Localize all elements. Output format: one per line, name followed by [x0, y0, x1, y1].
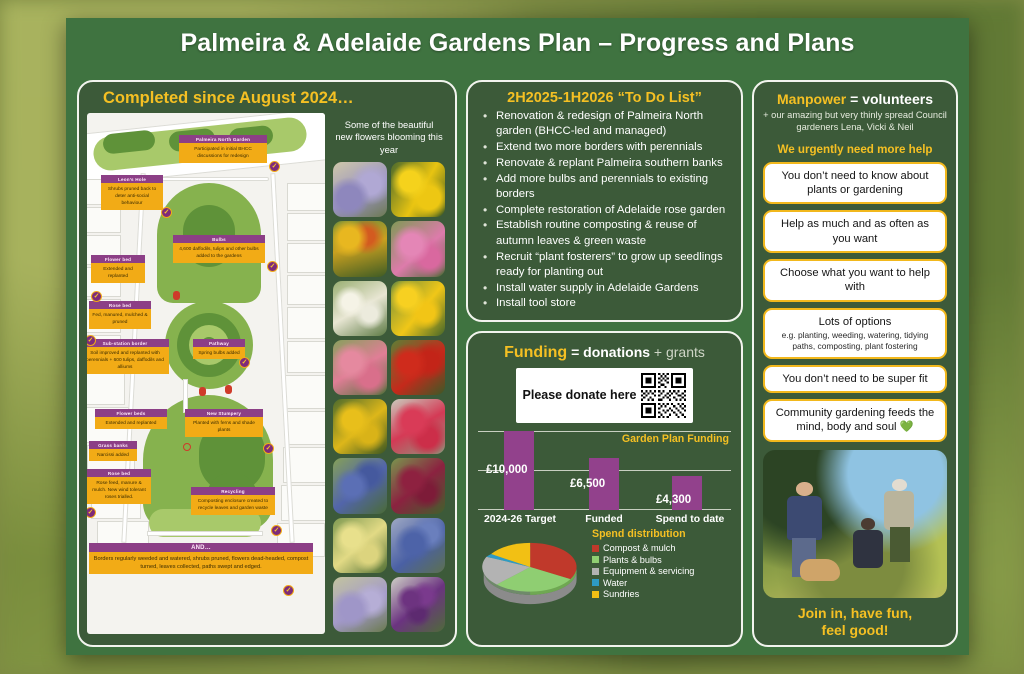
funding-heading-plus: + grants	[654, 344, 705, 360]
legend-swatch-water	[592, 579, 599, 586]
bar-value-spend: £4,300	[656, 494, 691, 506]
poster-columns: Completed since August 2024…	[66, 80, 969, 647]
benefit-card-flexible-time[interactable]: Help as much and as often as you want	[763, 210, 947, 253]
list-item: Add more bulbs and perennials to existin…	[478, 172, 731, 203]
funding-bar-chart: Garden Plan Funding £10,000 £6,500 £4,30…	[478, 431, 731, 524]
legend-swatch-sundries	[592, 591, 599, 598]
map-label[interactable]: Rose bed Rose feed, manure & mulch. New …	[87, 469, 151, 504]
benefit-card-no-knowledge[interactable]: You don’t need to know about plants or g…	[763, 162, 947, 205]
map-label[interactable]: Bulbs 4,600 daffodils, tulips and other …	[173, 235, 265, 263]
list-item: Renovate & replant Palmeira southern ban…	[478, 156, 731, 171]
volunteer-head	[892, 479, 907, 491]
join-in-text: Join in, have fun, feel good!	[763, 605, 947, 639]
bar-value-target: £10,000	[486, 464, 528, 476]
legend-item: Equipment & servicing	[592, 566, 733, 576]
legend-item: Sundries	[592, 589, 733, 599]
bar-value-funded: £6,500	[570, 478, 605, 490]
red-tulips-photo[interactable]	[391, 340, 445, 395]
red-amaranth-photo[interactable]	[391, 399, 445, 454]
pie-legend: Spend distribution Compost & mulch Plant…	[588, 528, 733, 601]
manpower-heading: Manpower = volunteers	[763, 91, 947, 107]
column-manpower: Manpower = volunteers + our amazing but …	[752, 80, 958, 647]
list-item: Install tool store	[478, 296, 731, 311]
todo-heading: 2H2025-1H2026 “To Do List”	[478, 90, 731, 106]
list-item: Renovation & redesign of Palmeira North …	[478, 109, 731, 140]
column-completed: Completed since August 2024…	[77, 80, 457, 647]
list-item: Establish routine composting & reuse of …	[478, 218, 731, 249]
legend-item: Water	[592, 578, 733, 588]
pink-sedum-photo[interactable]	[333, 340, 387, 395]
pie-svg	[476, 528, 588, 606]
funding-heading-eq: = donations	[571, 344, 650, 360]
photos-caption: Some of the beautiful new flowers bloomi…	[331, 113, 447, 162]
benefit-card-fitness[interactable]: You don’t need to be super fit	[763, 365, 947, 393]
donate-label: Please donate here	[523, 388, 637, 403]
list-item: Extend two more borders with perennials	[478, 140, 731, 155]
funding-heading-word: Funding	[504, 344, 567, 361]
panel-completed: Completed since August 2024…	[77, 80, 457, 647]
manpower-subtitle: + our amazing but very thinly spread Cou…	[763, 109, 947, 134]
pale-yellow-phlomis-photo[interactable]	[333, 518, 387, 573]
check-icon: ✓	[269, 161, 280, 172]
check-icon: ✓	[267, 261, 278, 272]
legend-item: Plants & bulbs	[592, 555, 733, 565]
blue-eryngium-photo[interactable]	[391, 518, 445, 573]
benefit-card-choose-task[interactable]: Choose what you want to help with	[763, 259, 947, 302]
white-narcissi-photo[interactable]	[333, 281, 387, 336]
map-label[interactable]: Rose bed Fed, manured, mulched & pruned	[89, 301, 151, 329]
volunteer-torso	[853, 530, 882, 568]
list-item: Complete restoration of Adelaide rose ga…	[478, 203, 731, 218]
bar-category-target: 2024-26 Target	[474, 514, 566, 525]
check-icon: ✓	[271, 525, 282, 536]
map-label[interactable]: Grass banks Narcissi added	[89, 441, 137, 461]
map-label[interactable]: New Stumpery Planted with ferns and shad…	[185, 409, 263, 437]
page-title: Palmeira & Adelaide Gardens Plan – Progr…	[66, 18, 969, 58]
bar-chart-title: Garden Plan Funding	[622, 433, 729, 445]
lavender-border-photo[interactable]	[333, 162, 387, 217]
map-label[interactable]: Pathway Spring bulbs added	[193, 339, 245, 359]
map-label[interactable]: Flower bed Extended and replanted	[91, 255, 145, 283]
bar-category-spend: Spend to date	[642, 514, 738, 525]
benefit-card-lots-of-options[interactable]: Lots of options e.g. planting, weeding, …	[763, 308, 947, 359]
funding-heading: Funding = donations + grants	[476, 344, 733, 362]
legend-swatch-compost	[592, 545, 599, 552]
spend-distribution-chart: Spend distribution Compost & mulch Plant…	[476, 528, 733, 606]
map-label[interactable]: Palmeira North Garden Participated in in…	[179, 135, 267, 163]
legend-swatch-plants	[592, 556, 599, 563]
gardens-plan-map[interactable]: Palmeira North Garden Participated in in…	[87, 113, 325, 634]
volunteer-torso	[884, 491, 913, 529]
manpower-urgent-text: We urgently need more help	[763, 143, 947, 156]
yellow-achillea-photo[interactable]	[391, 162, 445, 217]
list-item: Recruit “plant fosterers” to grow up see…	[478, 250, 731, 281]
purple-alliums-photo[interactable]	[391, 577, 445, 632]
map-label[interactable]: Flower beds Extended and replanted	[95, 409, 167, 429]
volunteer-torso	[787, 496, 822, 540]
check-icon: ✓	[283, 585, 294, 596]
yellow-daffodils-photo[interactable]	[391, 281, 445, 336]
map-label[interactable]: Sub-station border Soil improved and rep…	[87, 339, 169, 374]
pink-diascia-photo[interactable]	[391, 221, 445, 276]
column-todo-funding: 2H2025-1H2026 “To Do List” Renovation & …	[466, 80, 743, 647]
volunteer-legs	[890, 527, 910, 563]
list-item: Install water supply in Adelaide Gardens	[478, 281, 731, 296]
legend-swatch-equipment	[592, 568, 599, 575]
donate-row: Please donate here	[476, 368, 733, 423]
dog	[800, 559, 840, 581]
flower-photo-strip: Some of the beautiful new flowers bloomi…	[331, 113, 447, 634]
panel-manpower: Manpower = volunteers + our amazing but …	[752, 80, 958, 647]
check-icon: ✓	[161, 207, 172, 218]
volunteers-gardening-photo[interactable]	[763, 450, 947, 598]
manpower-heading-rest: = volunteers	[850, 91, 933, 107]
check-icon: ✓	[263, 443, 274, 454]
photo-grid	[331, 162, 447, 634]
volunteer-head	[796, 482, 813, 495]
map-label[interactable]: Recycling Composting enclosure created t…	[191, 487, 275, 515]
pie-chart-title: Spend distribution	[592, 528, 733, 540]
donate-qr-box[interactable]: Please donate here	[516, 368, 694, 423]
blue-agapanthus-photo[interactable]	[333, 458, 387, 513]
todo-list: Renovation & redesign of Palmeira North …	[478, 109, 731, 312]
yellow-rudbeckia-photo[interactable]	[333, 399, 387, 454]
dark-red-dianthus-photo[interactable]	[391, 458, 445, 513]
completed-heading: Completed since August 2024…	[87, 89, 447, 108]
bar-category-funded: Funded	[568, 514, 640, 525]
legend-item: Compost & mulch	[592, 543, 733, 553]
map-label-and-more[interactable]: AND… Borders regularly weeded and watere…	[89, 543, 313, 574]
check-icon: ✓	[239, 357, 250, 368]
volunteer-head	[861, 518, 876, 530]
pie-holder	[476, 528, 588, 606]
check-icon: ✓	[91, 291, 102, 302]
manpower-heading-word: Manpower	[777, 91, 846, 107]
map-label[interactable]: Leon’s Hole Shrubs pruned back to deter …	[101, 175, 163, 210]
kniphofia-photo[interactable]	[333, 221, 387, 276]
panel-todo-list: 2H2025-1H2026 “To Do List” Renovation & …	[466, 80, 743, 322]
poster: Palmeira & Adelaide Gardens Plan – Progr…	[66, 18, 969, 655]
panel-funding: Funding = donations + grants Please dona…	[466, 331, 743, 647]
benefit-card-wellbeing[interactable]: Community gardening feeds the mind, body…	[763, 399, 947, 442]
lavender-salvia-photo[interactable]	[333, 577, 387, 632]
qr-code-icon[interactable]	[641, 373, 686, 418]
